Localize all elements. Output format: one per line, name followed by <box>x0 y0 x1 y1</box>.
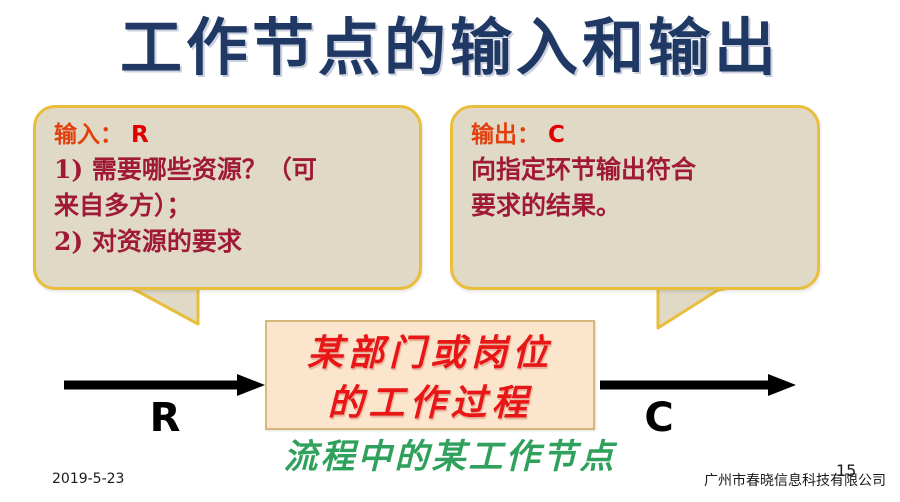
output-callout: 输出：C 向指定环节输出符合 要求的结果。 <box>450 105 820 290</box>
output-callout-heading-label: 输出： <box>471 122 540 148</box>
process-node-box: 某部门或岗位 的工作过程 <box>265 320 595 430</box>
output-callout-lines: 向指定环节输出符合 要求的结果。 <box>471 152 809 224</box>
output-callout-heading: 输出：C <box>471 118 809 152</box>
output-callout-line-2: 要求的结果。 <box>471 188 809 224</box>
output-callout-line-1: 向指定环节输出符合 <box>471 152 809 188</box>
input-callout-heading: 输入：R <box>54 118 411 152</box>
input-callout-body: 输入：R 1) 需要哪些资源？（可 来自多方）； 2) 对资源的要求 <box>54 118 411 260</box>
input-callout-line-1: 1) 需要哪些资源？（可 <box>54 152 411 188</box>
page-title: 工作节点的输入和输出 <box>0 10 900 86</box>
input-callout-lines: 1) 需要哪些资源？（可 来自多方）； 2) 对资源的要求 <box>54 152 411 260</box>
input-callout-heading-label: 输入： <box>54 122 123 148</box>
input-arrow-label: R <box>130 396 200 440</box>
output-callout-heading-value: C <box>540 122 565 148</box>
output-flow-arrow <box>598 372 798 398</box>
process-node-text: 某部门或岗位 的工作过程 <box>267 328 593 428</box>
process-node-line-1: 某部门或岗位 <box>267 328 593 378</box>
input-callout: 输入：R 1) 需要哪些资源？（可 来自多方）； 2) 对资源的要求 <box>33 105 422 290</box>
footer-date: 2019-5-23 <box>52 470 124 488</box>
input-callout-heading-value: R <box>123 122 149 148</box>
input-callout-line-3: 2) 对资源的要求 <box>54 224 411 260</box>
output-arrow-label: C <box>624 396 694 440</box>
footer-company: 广州市春晓信息科技有限公司 <box>704 472 886 490</box>
slide-canvas: 工作节点的输入和输出 输入：R 1) 需要哪些资源？（可 来自多方）； 2) 对… <box>0 0 900 502</box>
output-callout-body: 输出：C 向指定环节输出符合 要求的结果。 <box>471 118 809 224</box>
input-callout-line-2: 来自多方）； <box>54 188 411 224</box>
process-node-line-2: 的工作过程 <box>267 378 593 428</box>
